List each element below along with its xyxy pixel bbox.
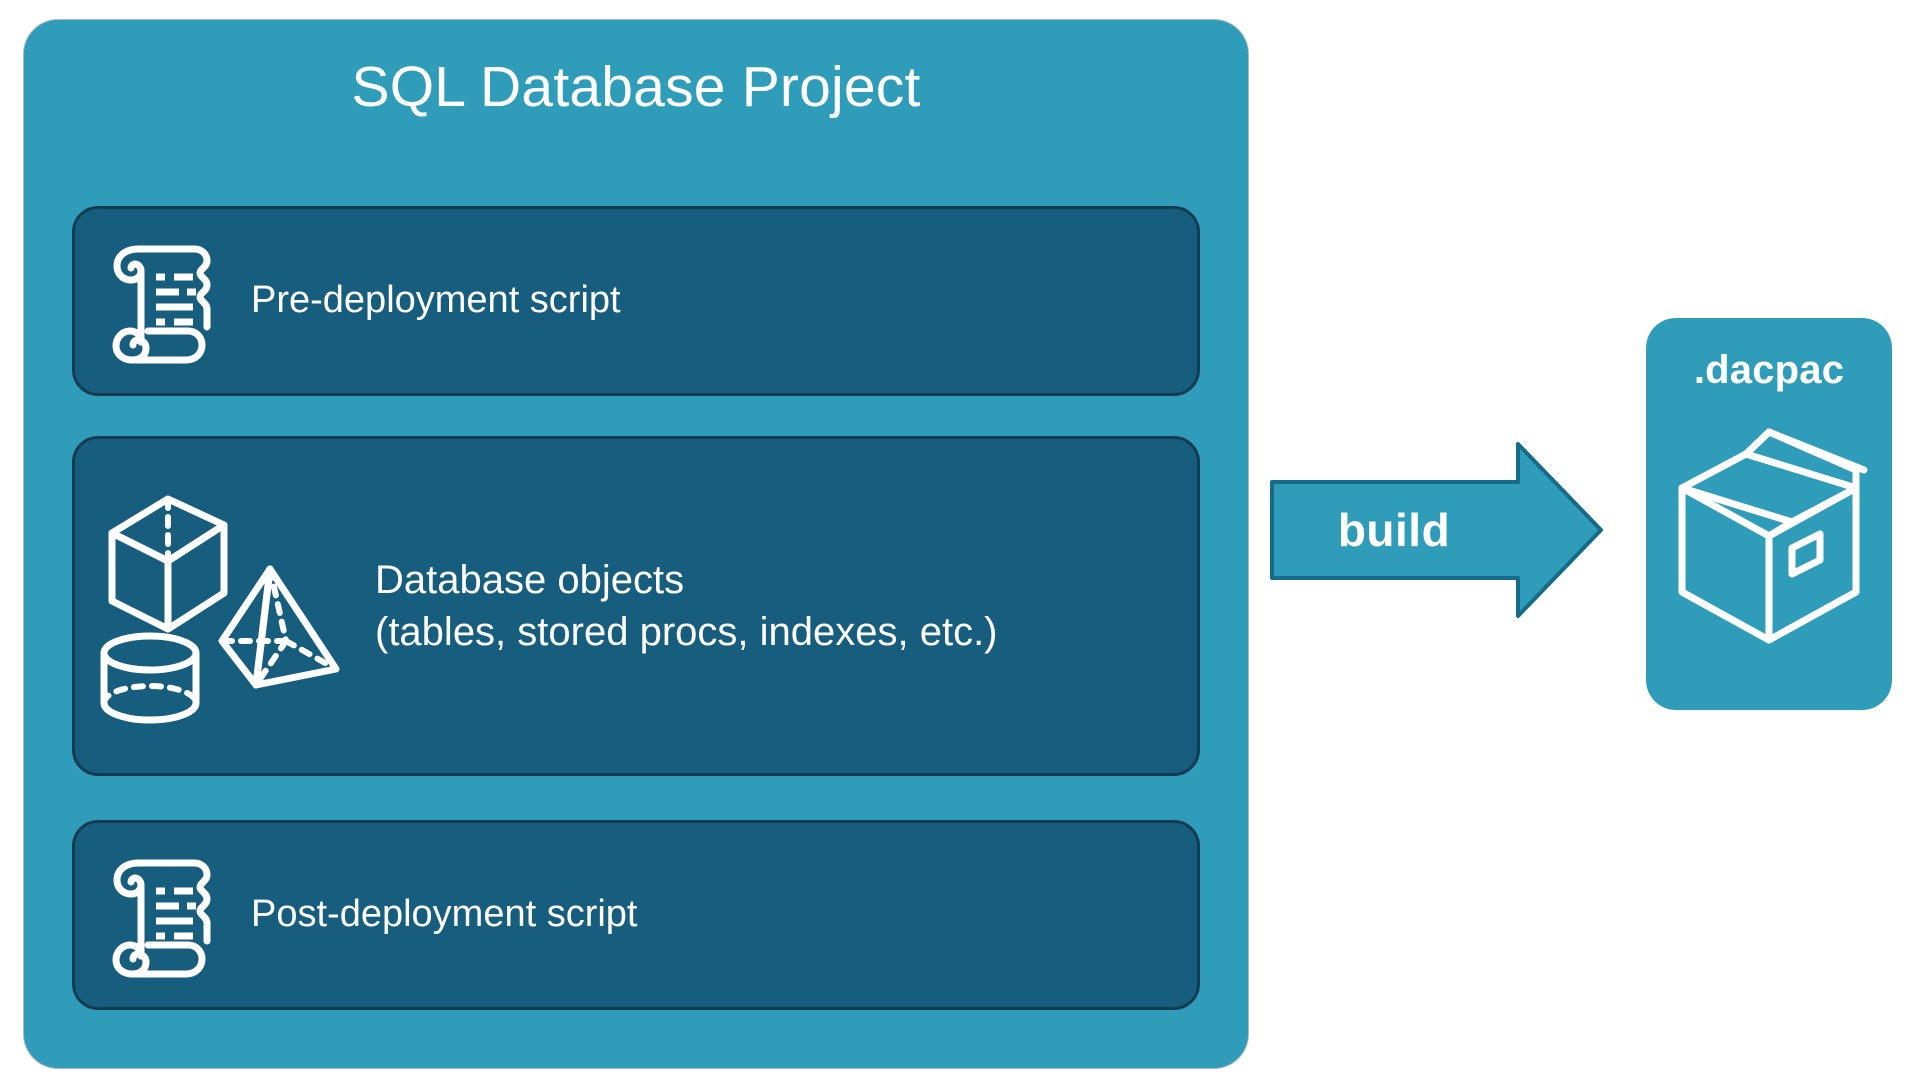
scroll-icon [75, 853, 251, 977]
package-box-icon [1674, 426, 1864, 646]
sql-database-project-diagram: SQL Database Project [0, 0, 1920, 1080]
card-pre-deployment-script[interactable]: Pre-deployment script [72, 206, 1200, 396]
card-database-objects[interactable]: Database objects (tables, stored procs, … [72, 436, 1200, 776]
dacpac-output-card[interactable]: .dacpac [1646, 318, 1892, 710]
pyramid-icon [222, 569, 336, 685]
build-arrow: build [1270, 440, 1604, 620]
card-label-database-objects: Database objects (tables, stored procs, … [375, 554, 998, 658]
project-panel: SQL Database Project [24, 20, 1248, 1068]
page-title: SQL Database Project [24, 56, 1248, 119]
cube-icon [112, 499, 224, 629]
dacpac-label: .dacpac [1646, 348, 1892, 393]
card-post-deployment-script[interactable]: Post-deployment script [72, 820, 1200, 1010]
card-label-pre-deployment-script: Pre-deployment script [251, 276, 621, 325]
cylinder-icon [104, 636, 196, 720]
arrow-shape [1272, 444, 1601, 616]
card-label-post-deployment-script: Post-deployment script [251, 890, 638, 939]
3d-shapes-icon [75, 481, 375, 731]
scroll-icon [75, 239, 251, 363]
